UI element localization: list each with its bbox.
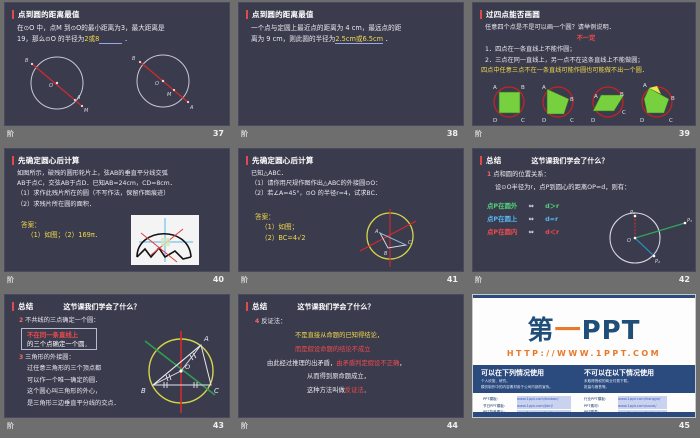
page-number: 39 — [679, 129, 690, 138]
svg-text:C: C — [669, 118, 673, 124]
relation-right: d＜r — [545, 228, 559, 236]
svg-text:D: D — [493, 118, 497, 124]
slide-subtitle: 这节课我们学会了什么？ — [63, 302, 140, 312]
relation-right: d＞r — [545, 202, 559, 210]
body-line: 一个点与定圆上最近点的距离为 4 cm，最远点的距 — [251, 23, 455, 34]
body-line-2: 1．四点在一条直线上不能作圆； — [485, 45, 687, 56]
item-number: 2 — [19, 317, 23, 324]
slide-42[interactable]: 总结 这节课我们学会了什么？ 1 点和圆的位置关系： 设⊙O半径为r，点P到圆心… — [472, 148, 696, 272]
svg-text:A: A — [76, 95, 81, 101]
slide-cell-45[interactable]: 第一PPT HTTP://WWW.1PPT.COM 可以在下列情况使用 个人欣赏… — [468, 292, 700, 438]
svg-text:O: O — [185, 363, 190, 371]
slide-body: 如图所示，破残的圆形轮片上，弦AB的垂直平分线交弧 AB于点C，交弦AB于点D．… — [17, 169, 221, 210]
svg-text:C: C — [521, 118, 525, 124]
body-line-1: （1）请你用尺规作图作出△ABC的外接圆⊙O： — [251, 179, 455, 189]
svg-text:B: B — [620, 92, 624, 98]
slide-header: 先确定圆心后计算 — [246, 155, 463, 166]
slide-cell-38[interactable]: 点到圆的距离最值 一个点与定圆上最近点的距离为 4 cm，最远点的距 离为 9 … — [234, 0, 468, 146]
body-line-4-red: 反证法 — [345, 387, 364, 394]
footer-logo-icon: 阶 — [241, 275, 248, 285]
body-line-0: 任意四个点是不是可以画一个圆？请举例说明． — [485, 23, 687, 34]
svg-text:P₃: P₃ — [687, 218, 692, 224]
slide-cell-42[interactable]: 总结 这节课我们学会了什么？ 1 点和圆的位置关系： 设⊙O半径为r，点P到圆心… — [468, 146, 700, 292]
logo-en: PPT — [582, 316, 641, 346]
brand-logo: 第一PPT HTTP://WWW.1PPT.COM — [473, 298, 695, 358]
figure-triangle-circumcircle: A B C O — [133, 323, 230, 415]
slide-header: 过四点能否画圆 — [480, 9, 695, 20]
relation-symbol: ⇔ — [528, 202, 533, 210]
slide-header: 总结 这节课我们学会了什么？ — [480, 155, 695, 166]
body-line-2: （1）求作此残片所在的圆（不写作法，保留作图痕迹） — [17, 189, 221, 199]
page-number: 37 — [213, 129, 224, 138]
slide-41[interactable]: 先确定圆心后计算 已知△ABC． （1）请你用尺规作图作出△ABC的外接圆⊙O：… — [238, 148, 464, 272]
slide-footer: 阶 39 — [472, 126, 696, 146]
bottom-band — [473, 412, 695, 417]
page-number: 44 — [447, 421, 458, 430]
link-url[interactable]: www.1ppt.com/sucai/ — [618, 403, 667, 409]
footer-logo-icon: 阶 — [475, 129, 482, 139]
svg-text:M: M — [167, 92, 172, 98]
body-line-4: 这种方法叫做反证法． — [307, 384, 455, 398]
inline-answer: 2或8 — [84, 35, 99, 43]
slide-header: 点到圆的距离最值 — [12, 9, 229, 20]
svg-text:A: A — [493, 85, 497, 91]
body-line-1: AB于点C，交弦AB于点D．已知AB=24cm，CD=8cm． — [17, 179, 221, 189]
svg-text:D: D — [591, 118, 595, 124]
slide-43[interactable]: 总结 这节课我们学会了什么？ 2 不共线的三点确定一个圆： 不在同一条直线上 的… — [4, 294, 230, 418]
relation-right: d=r — [545, 215, 558, 223]
page-number: 41 — [447, 275, 458, 284]
svg-text:B: B — [141, 387, 146, 395]
slide-footer: 阶 37 — [4, 126, 230, 146]
svg-text:A: A — [374, 229, 379, 235]
slide-header: 点到圆的距离最值 — [246, 9, 463, 20]
body-line-3: （2）求残片所在圆的面积． — [17, 200, 221, 210]
relation-symbol: ⇔ — [528, 228, 533, 236]
page-number: 40 — [213, 275, 224, 284]
svg-text:B: B — [570, 97, 574, 103]
figure-circumcircle-construction: A B C — [344, 209, 459, 271]
svg-text:B: B — [132, 56, 136, 62]
footer-logo-icon: 阶 — [241, 421, 248, 431]
body-line-4: 四点中任意三点不在一条直线可能作圆也可能做不出一个圆． — [481, 66, 687, 77]
footer-logo-icon: 阶 — [7, 129, 14, 139]
svg-text:M: M — [84, 108, 89, 114]
figure-broken-disc — [131, 215, 199, 265]
slide-title: 先确定圆心后计算 — [18, 155, 80, 166]
slide-title: 点到圆的距离最值 — [252, 9, 314, 20]
footer-logo-icon: 阶 — [7, 275, 14, 285]
svg-text:B: B — [521, 85, 525, 91]
slide-cell-43[interactable]: 总结 这节课我们学会了什么？ 2 不共线的三点确定一个圆： 不在同一条直线上 的… — [0, 292, 234, 438]
logo-cn: 第 — [528, 316, 555, 346]
svg-text:C: C — [214, 387, 219, 395]
item-number: 3 — [19, 354, 23, 361]
slide-cell-44[interactable]: 总结 这节课我们学会了什么？ 4 反证法： 不是直接从命题的已知得结论， 而是假… — [234, 292, 468, 438]
header-accent-bar — [12, 10, 14, 19]
svg-text:D: D — [542, 118, 546, 124]
header-accent-bar — [12, 156, 14, 165]
footer-logo-icon: 阶 — [475, 275, 482, 285]
allowed-col: 可以在下列情况使用 个人欣赏、研究。 模仿制作中的内容素材用于公司内部的宣传。 — [481, 368, 584, 390]
footer-logo-icon: 阶 — [241, 129, 248, 139]
slide-header: 总结 这节课我们学会了什么？ — [246, 301, 463, 312]
svg-text:C: C — [570, 118, 574, 124]
item-line-1: 设⊙O半径为r，点P到圆心的距离OP=d，则有： — [495, 182, 687, 195]
svg-text:P₁: P₁ — [630, 210, 635, 216]
slide-footer: 阶 40 — [4, 272, 230, 292]
highlight-line-1: 不在同一条直线上 — [27, 330, 91, 339]
slide-cell-41[interactable]: 先确定圆心后计算 已知△ABC． （1）请你用尺规作图作出△ABC的外接圆⊙O：… — [234, 146, 468, 292]
slide-body: 任意四个点是不是可以画一个圆？请举例说明． 不一定 1．四点在一条直线上不能作圆… — [485, 23, 687, 77]
svg-text:B: B — [384, 251, 388, 257]
not-allowed-sub-1: 批量与贩售等。 — [584, 384, 687, 390]
body-line-3: 从而得到原命题成立， — [307, 370, 455, 384]
highlight-line-2: 的三个点确定一个圆． — [27, 339, 91, 348]
item-number: 4 — [255, 318, 259, 325]
item-number: 1 — [487, 171, 491, 178]
slide-39[interactable]: 过四点能否画圆 任意四个点是不是可以画一个圆？请举例说明． 不一定 1．四点在一… — [472, 2, 696, 126]
slide-38[interactable]: 点到圆的距离最值 一个点与定圆上最近点的距离为 4 cm，最远点的距 离为 9 … — [238, 2, 464, 126]
body-line-0: 如图所示，破残的圆形轮片上，弦AB的垂直平分线交弧 — [17, 169, 221, 179]
svg-text:B: B — [25, 58, 29, 64]
slide-body: 4 反证法： 不是直接从命题的已知得结论， 而是假设命题的结论不成立 由此经过推… — [255, 315, 455, 398]
link-url[interactable]: www.1ppt.com/moban/ — [517, 396, 571, 402]
slide-header: 先确定圆心后计算 — [12, 155, 229, 166]
body-line-2: 由此经过推理的出矛盾，由矛盾判定假设不正确， — [267, 357, 455, 371]
inline-answer: 2.5cm或6.5cm — [335, 35, 383, 44]
slide-footer: 阶 38 — [238, 126, 464, 146]
link-url[interactable]: www.1ppt.com/hangye/ — [618, 396, 667, 402]
body-line-2: 19，那么⊙O 的半径为2或8 ． — [17, 34, 221, 45]
slide-45[interactable]: 第一PPT HTTP://WWW.1PPT.COM 可以在下列情况使用 个人欣赏… — [472, 294, 696, 418]
relation-left: 点P在圆内 — [487, 228, 517, 236]
body-line-2: 离为 9 cm，则此圆的半径为2.5cm或6.5cm ． — [251, 34, 455, 45]
svg-text:D: D — [640, 118, 644, 124]
header-accent-bar — [246, 302, 248, 311]
slide-thumbnail-grid: 点到圆的距离最值 在⊙O 中，点M 到⊙O的最小距离为3，最大距离是 19，那么… — [0, 0, 700, 438]
body-line-2: （2）若∠A=45°，⊙O 的半径r=4，试求BC． — [251, 189, 455, 199]
slide-footer: 45 — [472, 418, 696, 438]
body-line-2-red: 由矛盾判定假设不正确 — [336, 360, 399, 367]
highlight-box: 不在同一条直线上 的三个点确定一个圆． — [21, 328, 97, 350]
svg-text:C: C — [408, 240, 412, 246]
slide-footer: 阶 44 — [238, 418, 464, 438]
not-allowed-title: 不可以在以下情况使用 — [584, 368, 687, 378]
body-line-1: 不一定 — [485, 34, 687, 45]
figure-four-quadrilaterals: ABDC ABDC ABDC ABDC — [481, 81, 693, 125]
logo-text: 第一PPT — [473, 310, 695, 347]
svg-text:C: C — [622, 110, 626, 116]
page-number: 42 — [679, 275, 690, 284]
page-number: 43 — [213, 421, 224, 430]
slide-44[interactable]: 总结 这节课我们学会了什么？ 4 反证法： 不是直接从命题的已知得结论， 而是假… — [238, 294, 464, 418]
slide-cell-39[interactable]: 过四点能否画圆 任意四个点是不是可以画一个圆？请举例说明． 不一定 1．四点在一… — [468, 0, 700, 146]
slide-title: 点到圆的距离最值 — [18, 9, 80, 20]
body-line-1: 而是假设命题的结论不成立 — [295, 343, 455, 357]
body-line-0: 已知△ABC． — [251, 169, 455, 179]
footer-logo-icon: 阶 — [7, 421, 14, 431]
header-accent-bar — [480, 10, 482, 19]
slide-title: 先确定圆心后计算 — [252, 155, 314, 166]
relation-left: 点P在圆上 — [487, 215, 517, 223]
svg-text:A: A — [643, 83, 647, 89]
site-url: HTTP://WWW.1PPT.COM — [473, 349, 695, 358]
figure-point-circle-positions: O P₁ P₃ P₂ — [597, 207, 696, 269]
svg-text:O: O — [49, 83, 53, 89]
slide-40[interactable]: 先确定圆心后计算 如图所示，破残的圆形轮片上，弦AB的垂直平分线交弧 AB于点C… — [4, 148, 230, 272]
slide-subtitle: 这节课我们学会了什么？ — [531, 156, 608, 166]
slide-body: 一个点与定圆上最近点的距离为 4 cm，最远点的距 离为 9 cm，则此圆的半径… — [251, 23, 455, 45]
link-url[interactable]: www.1ppt.com/jieri/ — [517, 403, 571, 409]
slide-37[interactable]: 点到圆的距离最值 在⊙O 中，点M 到⊙O的最小距离为3，最大距离是 19，那么… — [4, 2, 230, 126]
slide-title: 总结 — [18, 301, 33, 312]
svg-text:O: O — [155, 81, 159, 87]
body-line-3: 2．三点在同一直线上，另一点不在这条直线上不能做圆； — [485, 56, 687, 67]
usage-band: 可以在下列情况使用 个人欣赏、研究。 模仿制作中的内容素材用于公司内部的宣传。 … — [473, 365, 695, 393]
slide-header: 总结 这节课我们学会了什么？ — [12, 301, 229, 312]
logo-dash: 一 — [555, 316, 582, 346]
slide-title: 总结 — [252, 301, 267, 312]
header-accent-bar — [480, 156, 482, 165]
slide-body: 在⊙O 中，点M 到⊙O的最小距离为3，最大距离是 19，那么⊙O 的半径为2或… — [17, 23, 221, 45]
svg-text:A: A — [189, 105, 194, 111]
allowed-title: 可以在下列情况使用 — [481, 368, 584, 378]
slide-footer: 阶 42 — [472, 272, 696, 292]
svg-text:A: A — [203, 335, 209, 343]
header-accent-bar — [246, 10, 248, 19]
relation-left: 点P在圆外 — [487, 202, 517, 210]
slide-title: 过四点能否画圆 — [486, 9, 540, 20]
body-line-0: 不是直接从命题的已知得结论， — [295, 329, 455, 343]
slide-body: 1 点和圆的位置关系： 设⊙O半径为r，点P到圆心的距离OP=d，则有： — [487, 169, 687, 194]
header-accent-bar — [12, 302, 14, 311]
allowed-sub-1: 模仿制作中的内容素材用于公司内部的宣传。 — [481, 384, 584, 390]
page-number: 38 — [447, 129, 458, 138]
svg-text:A: A — [594, 94, 598, 100]
body-line: 在⊙O 中，点M 到⊙O的最小距离为3，最大距离是 — [17, 23, 221, 34]
not-allowed-col: 不可以在以下情况使用 未取得授权的商业付费下载。 批量与贩售等。 — [584, 368, 687, 390]
item-line-0: 1 点和圆的位置关系： — [487, 169, 687, 182]
svg-text:B: B — [671, 96, 675, 102]
slide-subtitle: 这节课我们学会了什么？ — [297, 302, 374, 312]
header-accent-bar — [246, 156, 248, 165]
relation-symbol: ⇔ — [528, 215, 533, 223]
slide-body: 已知△ABC． （1）请你用尺规作图作出△ABC的外接圆⊙O： （2）若∠A=4… — [251, 169, 455, 200]
svg-text:P₂: P₂ — [655, 259, 660, 265]
answer-blank — [99, 35, 122, 44]
figure-two-circles: B A M O B M A O — [11, 51, 226, 121]
slide-footer: 阶 41 — [238, 272, 464, 292]
slide-title: 总结 — [486, 155, 501, 166]
slide-cell-40[interactable]: 先确定圆心后计算 如图所示，破残的圆形轮片上，弦AB的垂直平分线交弧 AB于点C… — [0, 146, 234, 292]
slide-cell-37[interactable]: 点到圆的距离最值 在⊙O 中，点M 到⊙O的最小距离为3，最大距离是 19，那么… — [0, 0, 234, 146]
svg-text:A: A — [542, 85, 546, 91]
page-number: 45 — [679, 421, 690, 430]
item-line: 4 反证法： — [255, 315, 455, 329]
slide-footer: 阶 43 — [4, 418, 230, 438]
svg-text:O: O — [627, 238, 631, 244]
